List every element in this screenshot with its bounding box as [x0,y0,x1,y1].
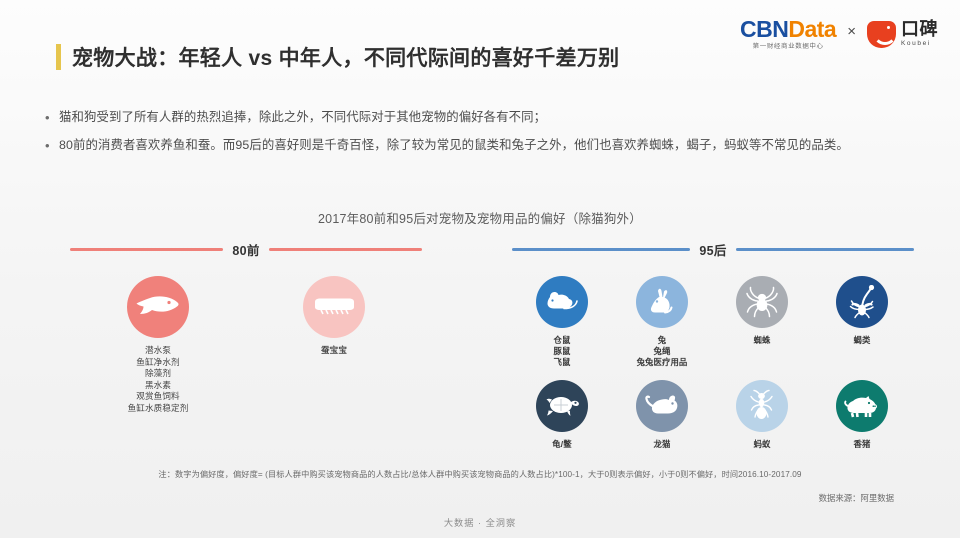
scorpion-icon [847,285,877,319]
cbndata-wordmark-blue: CBN [740,16,788,42]
footnote: 注：数字为偏好度，偏好度= (目标人群中购买该宠物商品的人数占比/总体人群中购买… [0,468,960,480]
divider-line-left [512,248,690,251]
label-line: 潜水泵 [128,345,189,357]
bullet-text: 猫和狗受到了所有人群的热烈追捧，除此之外，不同代际对于其他宠物的偏好各有不同； [59,108,546,127]
ant-icon [747,389,777,423]
bubble-ant [736,380,788,432]
pig-icon [843,394,881,418]
cell-labels-fish: 潜水泵 鱼缸净水剂 除藻剂 黑水素 观赏鱼饲料 鱼缸水质稳定剂 [128,345,189,415]
icon-grid-post95: 仓鼠 豚鼠 飞鼠 [512,276,914,462]
spider-icon [745,286,779,318]
cell-labels-rabbit: 兔 兔绳 兔兔医疗用品 [637,335,688,368]
divider-line-right [269,248,422,251]
cbndata-wordmark-orange: Data [788,16,836,42]
data-source: 数据来源：阿里数据 [819,492,894,504]
slide-canvas: CBNData 第一财经商业数据中心 × 口碑 Koubei 宠物大战：年轻人 … [0,0,960,538]
label-line: 鱼缸水质稳定剂 [128,403,189,415]
tagline: 大数据 · 全洞察 [0,515,960,529]
list-item[interactable]: 潜水泵 鱼缸净水剂 除藻剂 黑水素 观赏鱼饲料 鱼缸水质稳定剂 [83,276,233,415]
brand-logos: CBNData 第一财经商业数据中心 × 口碑 Koubei [740,14,938,54]
logo-cross-separator: × [845,23,858,40]
bubble-mouse [536,276,588,328]
label-line: 除藻剂 [128,368,189,380]
chinchilla-icon [643,394,681,418]
section-header-pre80: 80前 [70,240,422,258]
label-line: 豚鼠 [554,346,571,357]
koubei-text: 口碑 Koubei [901,20,938,48]
label-line: 黑水素 [128,380,189,392]
chart-title: 2017年80前和95后对宠物及宠物用品的偏好（除猫狗外） [0,208,960,227]
label-line: 鱼缸净水剂 [128,357,189,369]
cell-labels-turtle: 龟/鳖 [552,439,571,450]
divider-line-right [736,248,914,251]
panel-post95: 95后 仓鼠 豚鼠 [470,240,960,462]
cell-labels-pig: 香猪 [854,439,871,450]
label-line: 香猪 [854,439,871,450]
title-text: 宠物大战：年轻人 vs 中年人，不同代际间的喜好千差万别 [72,42,619,72]
cell-labels-chinchilla: 龙猫 [654,439,671,450]
bullet-marker: • [42,108,59,127]
list-item[interactable]: 蝎类 [812,276,912,368]
cbndata-logo: CBNData 第一财经商业数据中心 [740,18,836,51]
label-line: 龟/鳖 [552,439,571,450]
label-line: 兔兔医疗用品 [637,357,688,368]
label-line: 观赏鱼饲料 [128,391,189,403]
cbndata-subtitle: 第一财经商业数据中心 [753,44,824,50]
list-item[interactable]: 兔 兔绳 兔兔医疗用品 [612,276,712,368]
cell-labels-scorpion: 蝎类 [854,335,871,346]
koubei-smile-icon [867,21,896,48]
koubei-name-cn: 口碑 [901,20,938,38]
bullet-marker: • [42,136,59,155]
panel-pre80: 80前 潜水泵 鱼缸净水剂 除藻剂 黑水素 [0,240,470,462]
list-item[interactable]: 蜘蛛 [712,276,812,368]
cell-labels-ant: 蚂蚁 [754,439,771,450]
bullet-list: • 猫和狗受到了所有人群的热烈追捧，除此之外，不同代际对于其他宠物的偏好各有不同… [42,108,918,164]
silkworm-icon [312,296,356,318]
bubble-fish [127,276,189,338]
label-line: 蚕宝宝 [321,345,347,357]
mouse-icon [543,290,581,314]
bubble-turtle [536,380,588,432]
list-item[interactable]: 蚂蚁 [712,380,812,450]
koubei-logo: 口碑 Koubei [867,20,938,48]
list-item[interactable]: 香猪 [812,380,912,450]
label-line: 兔绳 [637,346,688,357]
divider-line-left [70,248,223,251]
icon-grid-pre80: 潜水泵 鱼缸净水剂 除藻剂 黑水素 观赏鱼饲料 鱼缸水质稳定剂 [70,276,422,415]
bubble-chinchilla [636,380,688,432]
label-line: 仓鼠 [554,335,571,346]
list-item[interactable]: 龟/鳖 [512,380,612,450]
fish-icon [136,294,180,320]
bullet-text: 80前的消费者喜欢养鱼和蚕。而95后的喜好则是千奇百怪，除了较为常见的鼠类和兔子… [59,136,849,155]
list-item[interactable]: 蚕宝宝 [259,276,409,415]
label-line: 兔 [637,335,688,346]
bubble-silkworm [303,276,365,338]
cell-labels-mouse: 仓鼠 豚鼠 飞鼠 [554,335,571,368]
bubble-spider [736,276,788,328]
title-accent-bar [56,44,61,70]
label-line: 蚂蚁 [754,439,771,450]
page-title: 宠物大战：年轻人 vs 中年人，不同代际间的喜好千差万别 [56,42,619,72]
rabbit-icon [645,288,679,316]
section-label: 95后 [699,240,726,259]
turtle-icon [543,394,581,418]
list-item[interactable]: 龙猫 [612,380,712,450]
label-line: 蜘蛛 [754,335,771,346]
bubble-pig [836,380,888,432]
list-item: • 80前的消费者喜欢养鱼和蚕。而95后的喜好则是千奇百怪，除了较为常见的鼠类和… [42,136,918,155]
section-label: 80前 [232,240,259,259]
label-line: 龙猫 [654,439,671,450]
cell-labels-spider: 蜘蛛 [754,335,771,346]
section-header-post95: 95后 [512,240,914,258]
bubble-scorpion [836,276,888,328]
cbndata-wordmark: CBNData [740,18,836,41]
label-line: 蝎类 [854,335,871,346]
chart-panels: 80前 潜水泵 鱼缸净水剂 除藻剂 黑水素 [0,240,960,462]
bubble-rabbit [636,276,688,328]
cell-labels-silkworm: 蚕宝宝 [321,345,347,357]
list-item: • 猫和狗受到了所有人群的热烈追捧，除此之外，不同代际对于其他宠物的偏好各有不同… [42,108,918,127]
label-line: 飞鼠 [554,357,571,368]
list-item[interactable]: 仓鼠 豚鼠 飞鼠 [512,276,612,368]
koubei-name-en: Koubei [901,41,938,48]
